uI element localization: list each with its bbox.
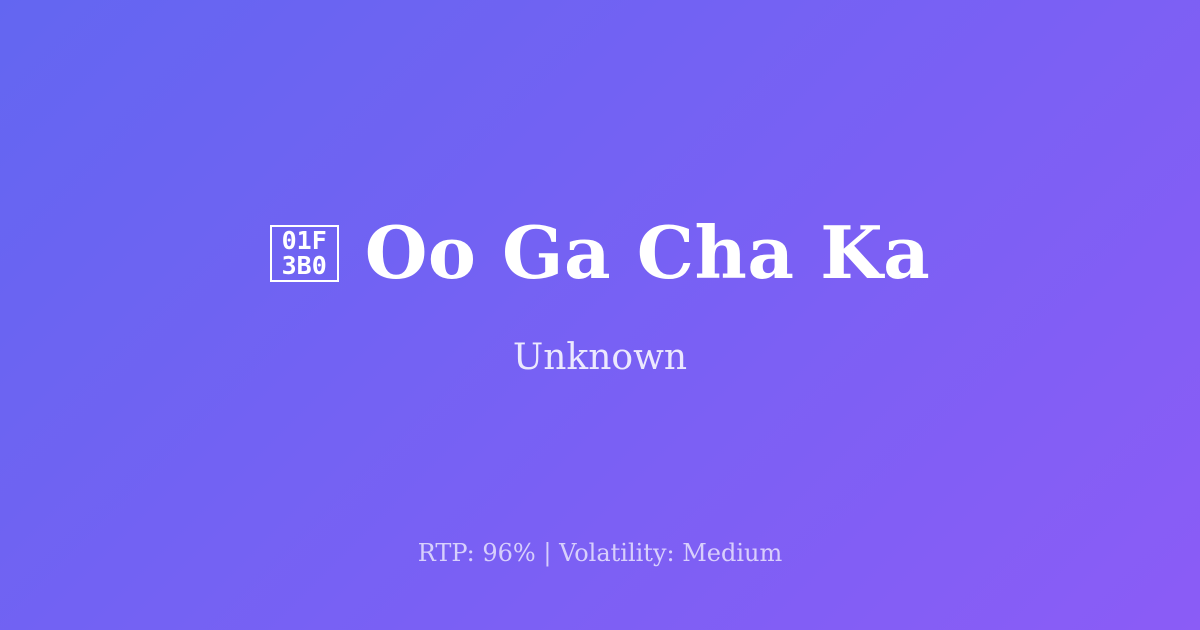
- game-provider-subtitle: Unknown: [513, 338, 687, 378]
- game-title-text: Oo Ga Cha Ka: [365, 216, 931, 289]
- slot-machine-icon: 01F 3B0: [270, 225, 339, 282]
- game-stats-line: RTP: 96% | Volatility: Medium: [0, 539, 1200, 568]
- tofu-codepoint-bottom: 3B0: [282, 253, 327, 278]
- game-preview-card: 01F 3B0 Oo Ga Cha Ka Unknown RTP: 96% | …: [0, 0, 1200, 630]
- page-title: 01F 3B0 Oo Ga Cha Ka: [270, 216, 931, 289]
- card-center-group: 01F 3B0 Oo Ga Cha Ka Unknown: [0, 216, 1200, 377]
- tofu-codepoint-top: 01F: [282, 228, 327, 253]
